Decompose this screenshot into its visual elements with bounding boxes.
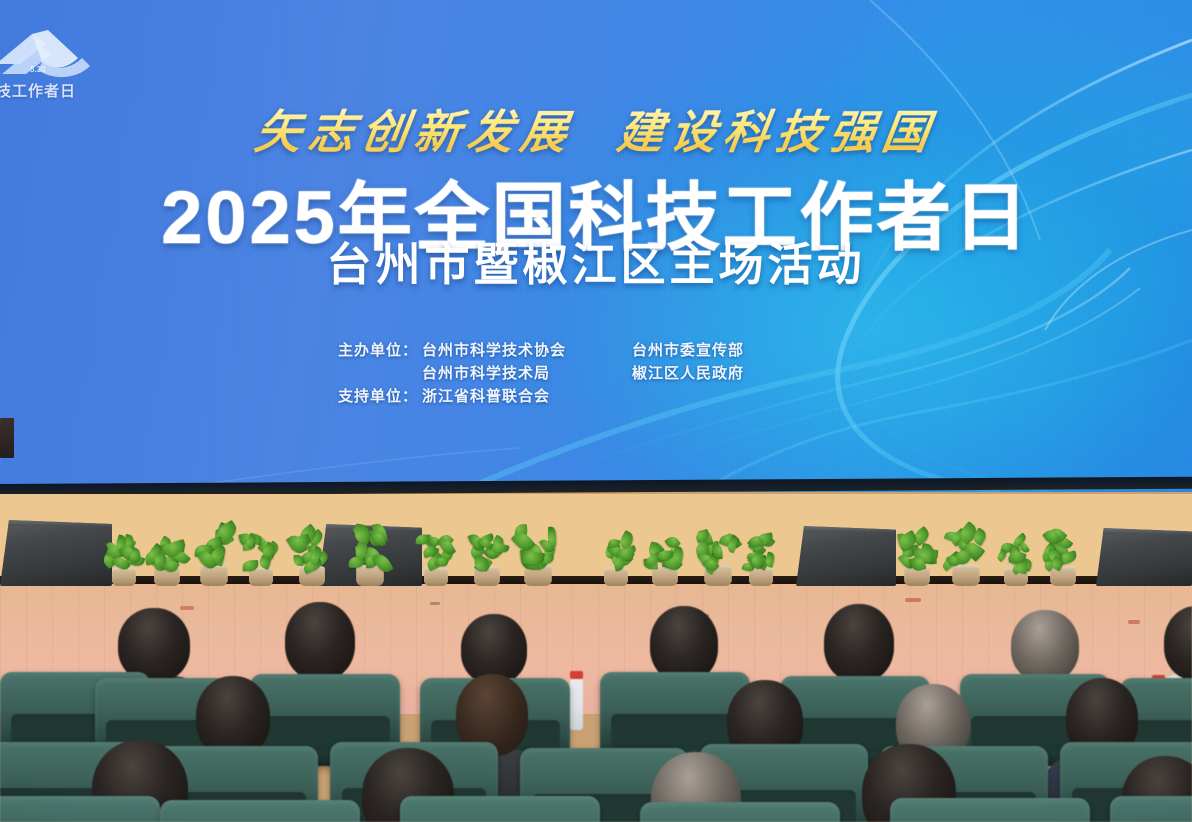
plant-foliage — [103, 535, 143, 572]
audience-member-head — [650, 606, 718, 682]
audience-area — [0, 600, 1192, 822]
support-org-1: 浙江省科普联合会 — [422, 386, 632, 409]
plant-foliage — [1041, 532, 1085, 572]
auditorium-seat — [1110, 796, 1192, 822]
plant-foliage — [643, 532, 687, 572]
banner-slogan: 矢志创新发展建设科技强国 — [0, 96, 1192, 162]
potted-plant — [947, 523, 985, 586]
plant-leaf — [547, 525, 556, 545]
stage-props-layer — [0, 494, 1192, 590]
bottle-cap — [570, 671, 583, 679]
stage-monitor-speaker — [1096, 528, 1192, 586]
potted-plant — [246, 539, 275, 586]
host-org-1: 台州市科学技术协会 — [422, 340, 632, 363]
plant-foliage — [515, 528, 562, 570]
potted-plant — [699, 523, 737, 586]
host-org-3: 台州市科学技术局 — [422, 363, 632, 386]
slogan-left-text: 矢志创新发展 — [252, 107, 577, 158]
auditorium-seat — [890, 798, 1090, 822]
speaker-cabinet — [1096, 528, 1192, 586]
plant-foliage — [347, 528, 394, 570]
speaker-cabinet — [796, 526, 896, 586]
support-label: 支持单位： — [338, 386, 422, 409]
organizer-row-support: 支持单位： 浙江省科普联合会 — [338, 386, 878, 409]
plant-foliage — [145, 532, 189, 572]
audience-member-head — [1011, 610, 1079, 682]
logo-date-mark: 5.30 — [30, 65, 46, 74]
plant-foliage — [943, 528, 990, 570]
edge-object — [0, 418, 14, 458]
host-org-4: 椒江区人民政府 — [632, 363, 744, 386]
potted-plant — [195, 523, 233, 586]
event-photograph: 5.30 科技工作者日 矢志创新发展建设科技强国 2025年全国科技工作者日 台… — [0, 0, 1192, 822]
stage-monitor-speaker — [796, 526, 896, 586]
audience-member-head — [118, 608, 190, 682]
logo-emblem-icon — [0, 18, 106, 82]
plant-leaf — [242, 561, 258, 572]
auditorium-seat — [0, 796, 160, 822]
audience-member-head — [824, 604, 894, 682]
organizer-row-host-2: 台州市科学技术局 椒江区人民政府 — [338, 363, 878, 386]
plant-foliage — [595, 535, 635, 572]
potted-plant — [150, 531, 183, 586]
led-stage-banner: 5.30 科技工作者日 矢志创新发展建设科技强国 2025年全国科技工作者日 台… — [0, 0, 1192, 492]
plant-leaf — [764, 553, 776, 569]
plant-foliage — [895, 532, 939, 572]
potted-plant — [1046, 531, 1079, 586]
potted-plant — [900, 531, 933, 586]
banner-title-sub: 台州市暨椒江区主场活动 — [0, 228, 1192, 293]
potted-plant — [601, 539, 630, 586]
plant-leaf — [713, 544, 723, 559]
potted-plant — [470, 531, 503, 586]
speaker-top-edge — [1096, 528, 1192, 534]
plant-foliage — [415, 535, 455, 572]
host-org-2: 台州市委宣传部 — [632, 340, 744, 363]
potted-plant — [648, 531, 681, 586]
potted-plant — [746, 539, 775, 586]
organizer-block: 主办单位： 台州市科学技术协会 台州市委宣传部 台州市科学技术局 椒江区人民政府… — [338, 340, 878, 408]
plant-foliage — [740, 535, 780, 572]
plant-foliage — [191, 528, 238, 570]
speaker-top-edge — [0, 520, 112, 526]
speaker-cabinet — [0, 520, 112, 586]
host-label-spacer — [338, 363, 422, 386]
plant-leaf — [352, 523, 371, 544]
plant-foliage — [290, 532, 334, 572]
host-label: 主办单位： — [338, 340, 422, 363]
auditorium-seat — [400, 796, 600, 822]
plant-foliage — [995, 535, 1035, 572]
auditorium-seat — [160, 800, 360, 822]
organizer-row-host-1: 主办单位： 台州市科学技术协会 台州市委宣传部 — [338, 340, 878, 363]
plant-leaf — [671, 545, 684, 565]
plant-foliage — [695, 528, 742, 570]
potted-plant — [109, 539, 138, 586]
stage-monitor-speaker — [0, 520, 112, 586]
audience-member-head — [1164, 606, 1192, 680]
potted-plant — [351, 523, 389, 586]
potted-plant — [421, 539, 450, 586]
auditorium-seat — [640, 802, 840, 822]
water-bottle — [570, 678, 583, 730]
potted-plant — [295, 531, 328, 586]
speaker-top-edge — [796, 526, 896, 532]
slogan-right-text: 建设科技强国 — [614, 107, 939, 158]
plant-foliage — [240, 535, 280, 572]
audience-member-head — [285, 602, 355, 680]
potted-plant — [519, 523, 557, 586]
potted-plant — [1001, 539, 1030, 586]
plant-foliage — [465, 532, 509, 572]
